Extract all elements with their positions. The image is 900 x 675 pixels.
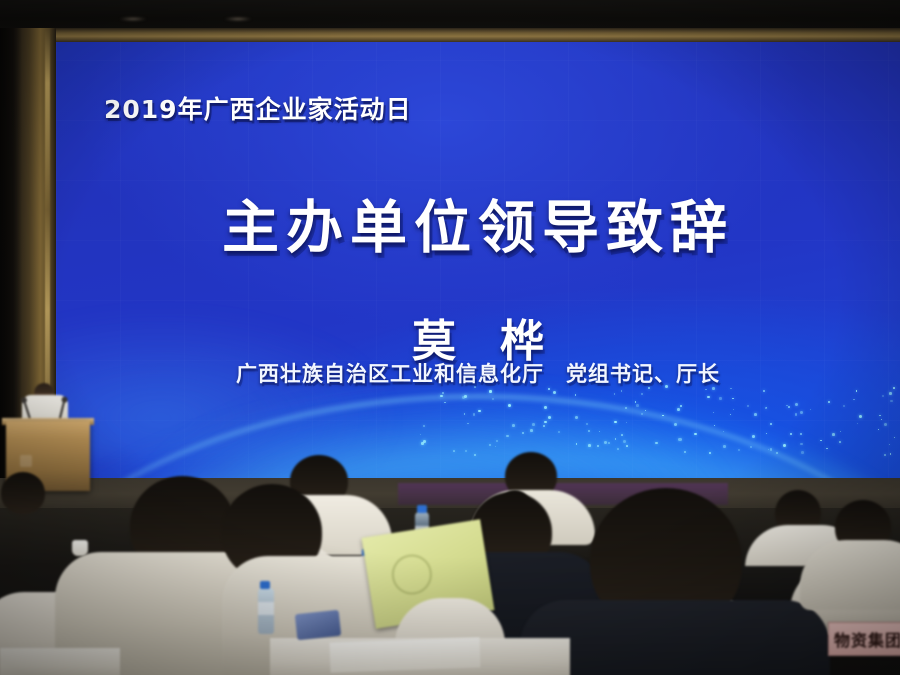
wall-shadow-left: [0, 28, 22, 483]
bottle-cap: [417, 505, 427, 513]
ceiling-light-icon: [120, 17, 146, 21]
wall-trim-top: [0, 28, 900, 42]
table-papers: [330, 637, 481, 672]
table-name-card: 物资集团: [828, 622, 900, 656]
screen-glow-bottom: [140, 381, 731, 481]
audience-head: [1, 472, 45, 514]
slide-speaker-title: 广西壮族自治区工业和信息化厅 党组书记、厅长: [56, 358, 900, 388]
smartphone: [295, 610, 341, 640]
bottle-label: [258, 602, 274, 615]
water-bottle: [258, 588, 274, 634]
ceiling-light-icon: [225, 17, 251, 21]
conference-hall-photo: 2019年广西企业家活动日 主办单位领导致辞 莫 桦 广西壮族自治区工业和信息化…: [0, 0, 900, 675]
audience-shoulders: [800, 540, 900, 610]
conference-table: [0, 648, 120, 675]
slide-title-text: 主办单位领导致辞: [56, 182, 900, 264]
folder-emblem-icon: [389, 552, 435, 598]
bottle-cap: [260, 581, 270, 589]
led-screen: 2019年广西企业家活动日 主办单位领导致辞 莫 桦 广西壮族自治区工业和信息化…: [56, 42, 900, 481]
slide-header-text: 2019年广西企业家活动日: [104, 90, 412, 126]
